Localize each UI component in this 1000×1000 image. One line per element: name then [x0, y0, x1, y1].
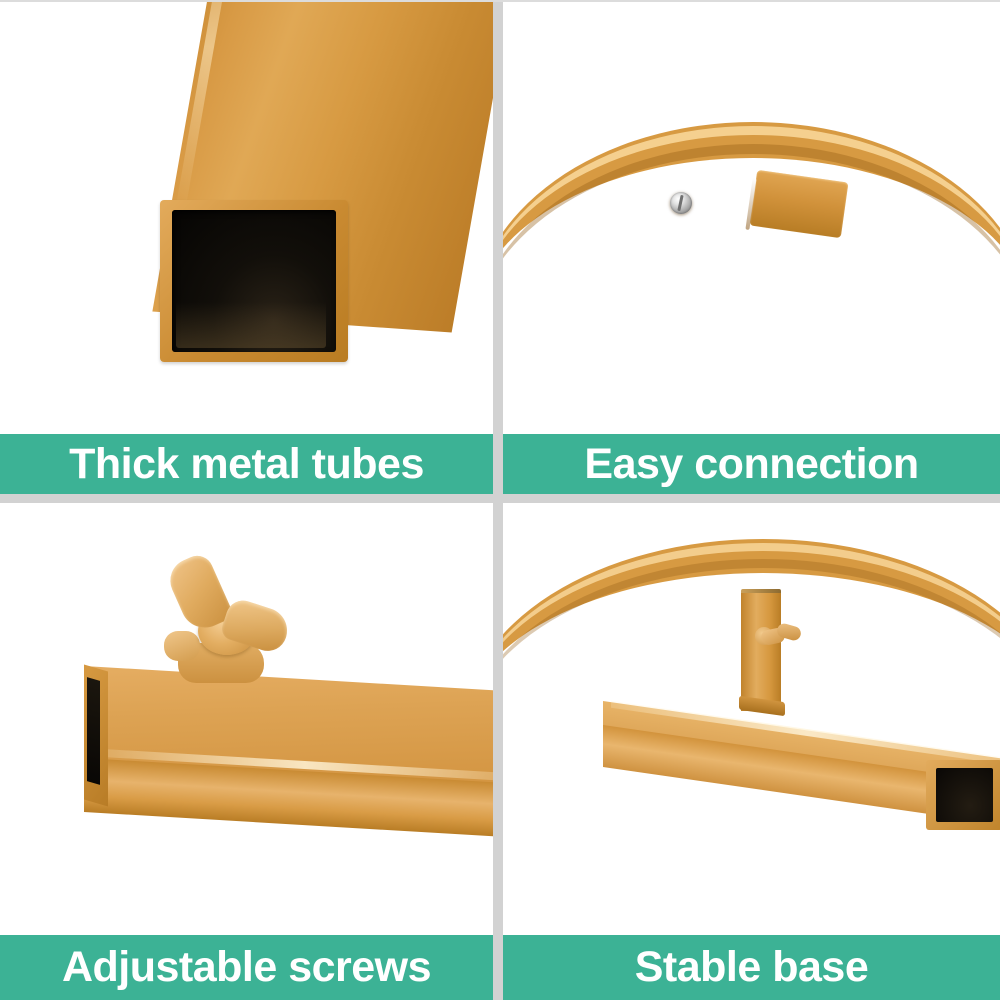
panel-thick-metal-tubes[interactable]: Thick metal tubes: [0, 2, 493, 494]
caption-adjustable-screws: Adjustable screws: [0, 935, 493, 1000]
top-divider: [0, 0, 1000, 2]
caption-easy-connection: Easy connection: [503, 434, 1000, 494]
wing-nut-icon: [150, 555, 290, 685]
photo-bar-with-wing-nut: [0, 503, 493, 1000]
feature-collage: Thick metal tubes Easy connection: [0, 0, 1000, 1000]
photo-t-base-foot: [503, 503, 1000, 1000]
wing-nut-stud: [164, 631, 200, 661]
screw-icon: [670, 192, 692, 214]
caption-thick-metal-tubes: Thick metal tubes: [0, 434, 493, 494]
vertical-post: [741, 593, 781, 711]
panel-easy-connection[interactable]: Easy connection: [503, 2, 1000, 494]
curved-rail-group: [503, 2, 1000, 436]
post-wing-nut-icon: [761, 623, 801, 651]
panel-adjustable-screws[interactable]: Adjustable screws: [0, 503, 493, 1000]
panel-stable-base[interactable]: Stable base: [503, 503, 1000, 1000]
photo-curved-tube-joint: [503, 2, 1000, 494]
caption-stable-base: Stable base: [503, 935, 1000, 1000]
photo-square-tube-end: [0, 2, 493, 494]
tube-bore-glint: [176, 302, 326, 348]
base-bar-end-bore: [936, 768, 993, 822]
bar-end-bore: [87, 677, 100, 785]
